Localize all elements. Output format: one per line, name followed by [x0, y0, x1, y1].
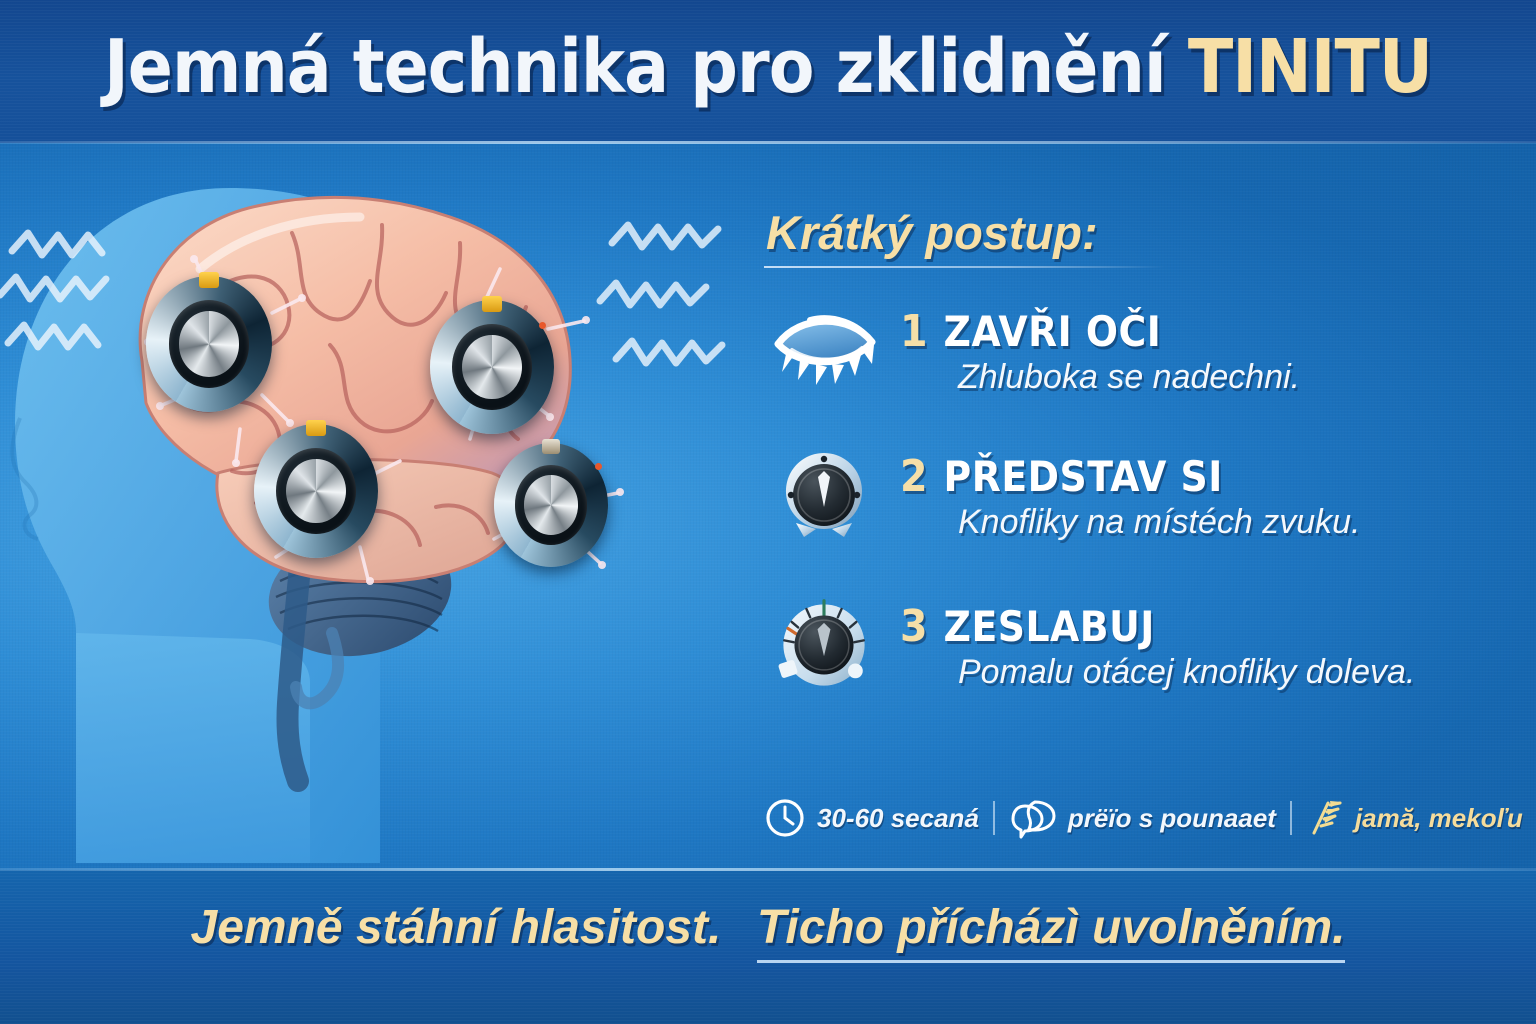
step-number: 2	[900, 451, 928, 502]
infographic-poster: Jemná technika pro zklidnění TINITU	[0, 0, 1536, 1024]
step-title: ZAVŘI OČI	[944, 307, 1162, 356]
bottom-banner: Jemně stáhní hlasitost. Ticho přícházì u…	[0, 900, 1536, 955]
meta-item-duration: 30-60 secaná	[764, 797, 979, 839]
meta-separator	[1290, 801, 1292, 835]
panel-heading: Krátký postup:	[766, 205, 1098, 260]
step-header: 3ZESLABUJ	[900, 601, 1155, 652]
meta-label: 30-60 secaná	[817, 803, 979, 834]
page-title-main: Jemná technika pro zklidnění	[104, 24, 1188, 110]
brain-illustration	[0, 143, 740, 870]
meta-row: 30-60 secaná prëïo s pounaaet	[764, 788, 1524, 848]
meta-label: prëïo s pounaaet	[1068, 803, 1276, 834]
page-title: Jemná technika pro zklidnění TINITU	[0, 24, 1536, 110]
step-number: 1	[900, 306, 928, 357]
banner-text-left: Jemně stáhní hlasitost.	[191, 901, 722, 954]
wheat-icon	[1306, 797, 1344, 839]
banner-text-right: Ticho přícházì uvolněním.	[757, 901, 1346, 963]
speech-bubble-icon	[1009, 797, 1057, 839]
tinnitus-wave-lines	[0, 143, 740, 603]
meta-item-tag: jamă, mekoľu	[1306, 797, 1523, 839]
step-number: 3	[900, 601, 928, 652]
step-title: PŘEDSTAV SI	[944, 452, 1223, 501]
step-subtitle: Knofliky na místéch zvuku.	[958, 503, 1361, 542]
meta-separator	[993, 801, 995, 835]
knob-plain-icon	[770, 443, 880, 543]
meta-item-note: prëïo s pounaaet	[1009, 797, 1276, 839]
step-header: 1ZAVŘI OČI	[900, 306, 1161, 357]
knob-scale-icon	[770, 593, 880, 693]
step-subtitle: Pomalu otácej knofliky doleva.	[958, 653, 1415, 692]
panel-heading-underline	[764, 266, 1164, 268]
step-subtitle: Zhluboka se nadechni.	[958, 358, 1300, 397]
meta-label: jamă, mekoľu	[1355, 803, 1523, 834]
step-title: ZESLABUJ	[944, 602, 1155, 651]
step-header: 2PŘEDSTAV SI	[900, 451, 1223, 502]
eye-icon	[770, 298, 880, 398]
steps-panel: Krátký postup:	[740, 143, 1536, 870]
page-title-accent: TINITU	[1188, 24, 1432, 110]
clock-icon	[764, 797, 806, 839]
